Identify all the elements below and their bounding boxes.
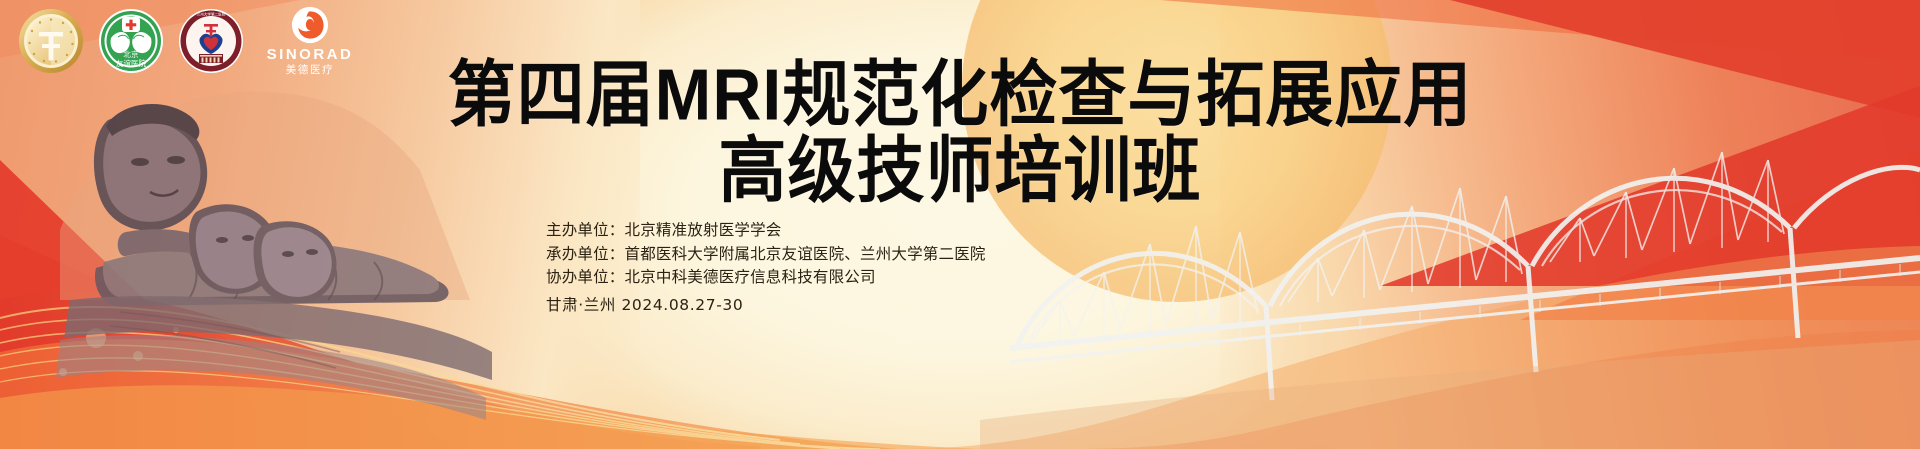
sinorad-eye-icon: [291, 6, 329, 44]
green-dove-cross-icon: 北京 友谊医院: [98, 8, 164, 74]
svg-text:友谊医院: 友谊医院: [116, 58, 147, 68]
bridge-water-haze: [980, 340, 1920, 449]
maroon-crest-icon: 兰州大学第二医院: [178, 8, 244, 74]
undertaker-organization-line: 承办单位：首都医科大学附属北京友谊医院、兰州大学第二医院: [546, 243, 986, 267]
organizer-logo-row: 北京 友谊医院: [18, 6, 362, 76]
location-date-line: 甘肃·兰州 2024.08.27-30: [546, 294, 986, 318]
sinorad-wordmark: SINORAD: [267, 47, 354, 62]
event-banner: 北京 友谊医院: [0, 0, 1920, 449]
host-organization-line: 主办单位：北京精准放射医学学会: [546, 219, 986, 243]
sinorad-wordmark-cn: 美德医疗: [286, 65, 334, 76]
beijing-precision-radiology-society-logo: [18, 8, 84, 74]
coorganizer-organization-line: 协办单位：北京中科美德医疗信息科技有限公司: [546, 266, 986, 290]
gold-medal-icon: [18, 8, 84, 74]
svg-text:兰州大学第二医院: 兰州大学第二医院: [197, 11, 226, 16]
organizer-info-block: 主办单位：北京精准放射医学学会 承办单位：首都医科大学附属北京友谊医院、兰州大学…: [546, 219, 986, 317]
svg-text:北京: 北京: [123, 49, 139, 59]
sinorad-logo: SINORAD 美德医疗: [258, 6, 362, 76]
beijing-friendship-hospital-logo: 北京 友谊医院: [98, 8, 164, 74]
lanzhou-university-second-hospital-logo: 兰州大学第二医院: [178, 8, 244, 74]
